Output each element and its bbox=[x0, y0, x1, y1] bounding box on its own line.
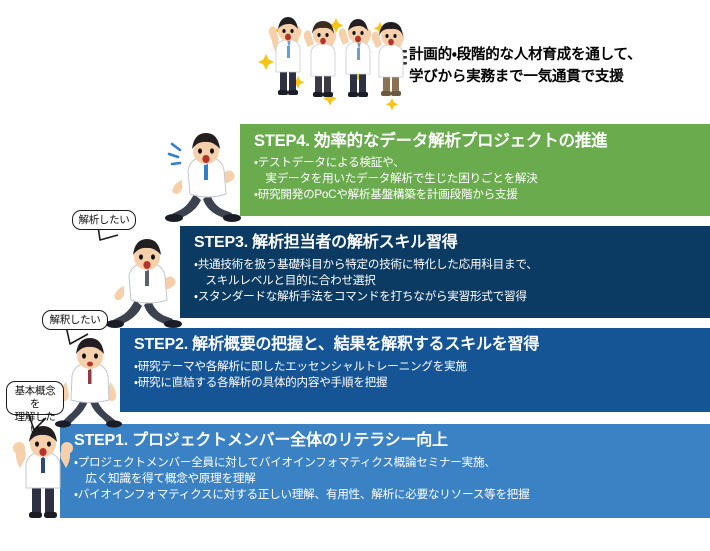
speech-bubble-interpret: 解釈したい bbox=[42, 310, 108, 330]
step-band-step3: STEP3. 解析担当者の解析スキル習得 ・共通技術を扱う基礎科目から特定の技術… bbox=[180, 226, 710, 318]
headline-text: 計画的・段階的な人材育成を通して、 学びから実務まで一気通貫で支援 bbox=[409, 44, 709, 89]
step-title-step3: STEP3. 解析担当者の解析スキル習得 bbox=[194, 233, 710, 254]
step-bullet: ・研究テーマや各解析に即したエッセンシャルトレーニングを実施 bbox=[134, 359, 710, 375]
step-title-step2: STEP2. 解析概要の把握と、結果を解釈するスキルを習得 bbox=[134, 335, 710, 356]
step-bullets-step1: ・プロジェクトメンバー全員に対してバイオインフォマティクス概論セミナー実施、 広… bbox=[74, 455, 710, 503]
step-bullets-step3: ・共通技術を扱う基礎科目から特定の技術に特化した応用科目まで、 スキルレベルと目… bbox=[194, 257, 710, 305]
step-bullet: ・スタンダードな解析手法をコマンドを打ちながら実習形式で習得 bbox=[194, 289, 710, 305]
step-title-step1: STEP1. プロジェクトメンバー全体のリテラシー向上 bbox=[74, 431, 710, 452]
celebrating-lab-researcher-illustration-step1 bbox=[8, 424, 80, 522]
step-band-step4: STEP4. 効率的なデータ解析プロジェクトの推進 ・テストデータによる検証や、… bbox=[240, 124, 710, 216]
running-lab-researcher-illustration-step3 bbox=[108, 238, 186, 330]
step-bullets-step2: ・研究テーマや各解析に即したエッセンシャルトレーニングを実施 ・研究に直結する各… bbox=[134, 359, 710, 391]
running-lab-researcher-illustration-step4 bbox=[166, 132, 246, 224]
step-band-step1: STEP1. プロジェクトメンバー全体のリテラシー向上 ・プロジェクトメンバー全… bbox=[60, 424, 710, 518]
step-title-step4: STEP4. 効率的なデータ解析プロジェクトの推進 bbox=[254, 131, 710, 152]
step-bullet: ・共通技術を扱う基礎科目から特定の技術に特化した応用科目まで、 スキルレベルと目… bbox=[194, 257, 710, 289]
step-band-step2: STEP2. 解析概要の把握と、結果を解釈するスキルを習得 ・研究テーマや各解析… bbox=[120, 328, 710, 412]
step-bullet: ・プロジェクトメンバー全員に対してバイオインフォマティクス概論セミナー実施、 広… bbox=[74, 455, 710, 487]
step-bullet: ・研究に直結する各解析の具体的内容や手順を把握 bbox=[134, 375, 710, 391]
speech-bubble-basic-concepts: 基本概念を 理解したい bbox=[6, 381, 64, 415]
step-bullet: ・バイオインフォマティクスに対する正しい理解、有用性、解析に必要なリソース等を把… bbox=[74, 487, 710, 503]
cheering-lab-staff-group-illustration bbox=[258, 6, 410, 118]
step-bullet: ・テストデータによる検証や、 実データを用いたデータ解析で生じた困りごとを解決 bbox=[254, 155, 710, 187]
speech-bubble-analyze: 解析したい bbox=[72, 210, 136, 230]
infographic-canvas: 計画的・段階的な人材育成を通して、 学びから実務まで一気通貫で支援 bbox=[0, 0, 710, 551]
step-bullets-step4: ・テストデータによる検証や、 実データを用いたデータ解析で生じた困りごとを解決 … bbox=[254, 155, 710, 203]
step-bullet: ・研究開発のPoCや解析基盤構築を計画段階から支援 bbox=[254, 187, 710, 203]
